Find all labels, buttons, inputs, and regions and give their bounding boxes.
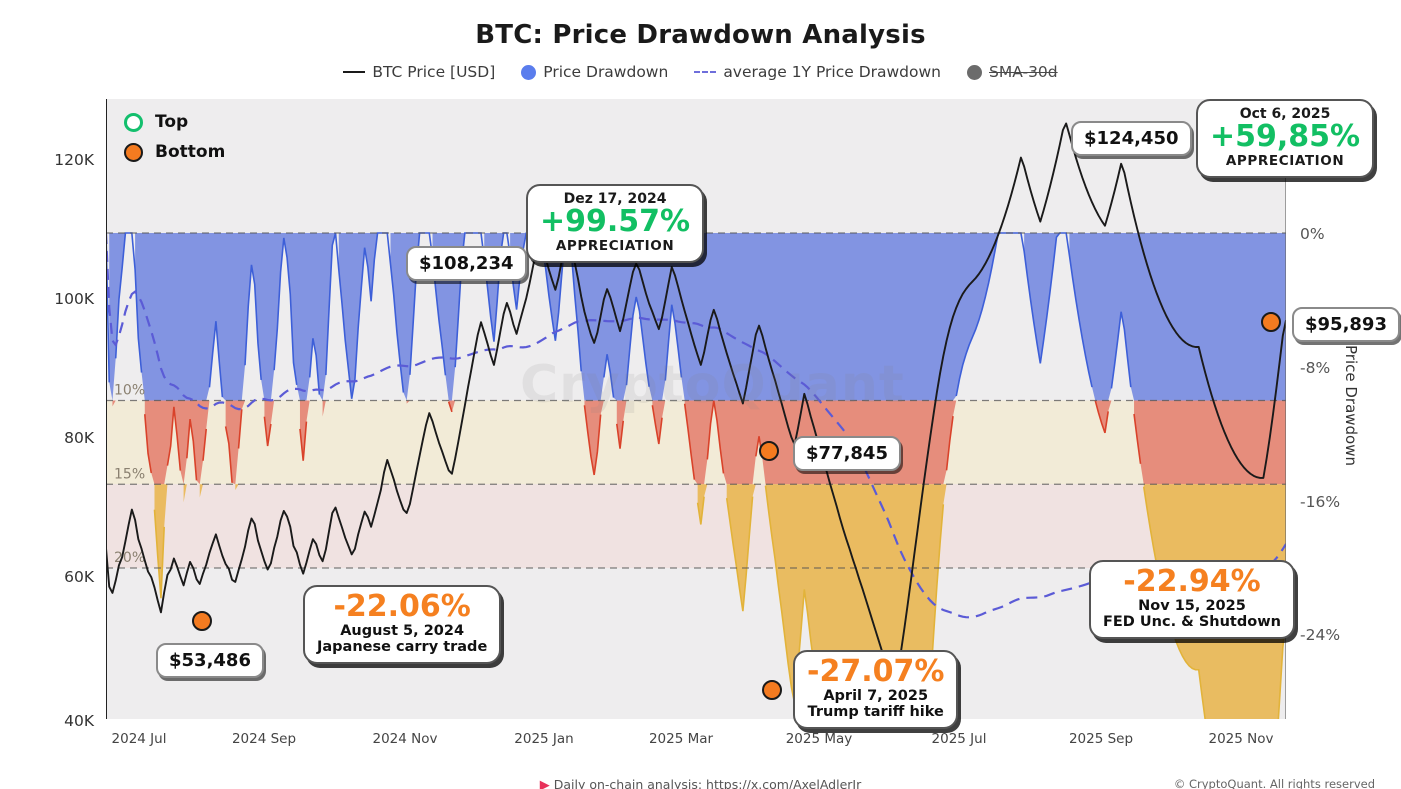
legend-label: BTC Price [USD] — [372, 63, 495, 81]
x-tick-6: 2025 Jul — [932, 731, 987, 747]
chart-page: BTC: Price Drawdown Analysis BTC Price [… — [0, 0, 1401, 789]
price-label-124450: $124,450 — [1071, 121, 1192, 156]
annotation-aug-5-2024: -22.06% August 5, 2024 Japanese carry tr… — [303, 585, 501, 664]
legend-label: SMA-30d — [989, 63, 1058, 81]
annotation-sub: Japanese carry trade — [317, 639, 487, 655]
chart-legend: BTC Price [USD] Price Drawdown average 1… — [0, 63, 1401, 81]
legend-item-price-drawdown[interactable]: Price Drawdown — [521, 63, 668, 81]
legend-item-average-1y-drawdown[interactable]: average 1Y Price Drawdown — [694, 63, 941, 81]
x-tick-8: 2025 Nov — [1209, 731, 1274, 747]
annotation-pct: -22.06% — [317, 592, 487, 623]
marker-bottom-aug-2024 — [192, 611, 212, 631]
y-tick-left-0: 40K — [64, 712, 94, 730]
svg-text:15%: 15% — [114, 466, 145, 482]
legend-label: Price Drawdown — [543, 63, 668, 81]
circle-open-icon — [124, 113, 143, 132]
dot-swatch-icon — [967, 65, 982, 80]
circle-filled-icon — [124, 143, 143, 162]
x-tick-3: 2025 Jan — [514, 731, 573, 747]
x-tick-0: 2024 Jul — [112, 731, 167, 747]
annotation-pct: +99.57% — [540, 207, 690, 238]
dot-swatch-icon — [521, 65, 536, 80]
annotation-pct: -27.07% — [807, 657, 944, 688]
y-tick-right-3: -24% — [1300, 626, 1340, 644]
y-tick-left-1: 60K — [64, 568, 94, 586]
price-label-108234: $108,234 — [406, 246, 527, 281]
legend-item-top: Top — [124, 112, 225, 132]
legend-item-btc-price[interactable]: BTC Price [USD] — [343, 63, 495, 81]
play-icon: ▶ — [540, 778, 550, 789]
annotation-dec-17-2024: Dez 17, 2024 +99.57% APPRECIATION — [526, 184, 704, 263]
x-tick-7: 2025 Sep — [1069, 731, 1133, 747]
svg-text:10%: 10% — [114, 383, 145, 399]
legend-item-sma-30d[interactable]: SMA-30d — [967, 63, 1058, 81]
marker-bottom-apr-2025-low — [762, 680, 782, 700]
y-tick-right-2: -16% — [1300, 493, 1340, 511]
footer-prefix: Daily on-chain analysis: — [554, 777, 706, 789]
annotation-pct: -22.94% — [1103, 567, 1281, 598]
x-tick-1: 2024 Sep — [232, 731, 296, 747]
annotation-apr-7-2025: -27.07% April 7, 2025 Trump tariff hike — [793, 650, 958, 729]
annotation-date: April 7, 2025 — [807, 688, 944, 704]
footer-link[interactable]: https://x.com/AxelAdlerJr — [706, 777, 861, 789]
annotation-sub: Trump tariff hike — [807, 704, 944, 720]
line-swatch-icon — [343, 71, 365, 73]
annotation-sub: APPRECIATION — [1210, 153, 1360, 169]
marker-bottom-apr-2025 — [759, 441, 779, 461]
legend-label: average 1Y Price Drawdown — [723, 63, 941, 81]
dashed-line-swatch-icon — [694, 71, 716, 73]
price-label-53486: $53,486 — [156, 643, 264, 678]
annotation-date: Nov 15, 2025 — [1103, 598, 1281, 614]
price-label-95893: $95,893 — [1292, 307, 1400, 342]
annotation-sub: FED Unc. & Shutdown — [1103, 614, 1281, 630]
annotation-nov-15-2025: -22.94% Nov 15, 2025 FED Unc. & Shutdown — [1089, 560, 1295, 639]
x-tick-4: 2025 Mar — [649, 731, 713, 747]
annotation-pct: +59,85% — [1210, 122, 1360, 153]
annotation-sub: APPRECIATION — [540, 238, 690, 254]
x-tick-5: 2025 May — [786, 731, 853, 747]
y-tick-right-1: -8% — [1300, 359, 1330, 377]
legend-label: Bottom — [155, 142, 225, 162]
footer-copyright: © CryptoQuant. All rights reserved — [1174, 777, 1375, 789]
y-tick-left-3: 100K — [54, 290, 94, 308]
x-tick-2: 2024 Nov — [373, 731, 438, 747]
legend-item-bottom: Bottom — [124, 142, 225, 162]
top-bottom-legend: Top Bottom — [124, 112, 225, 162]
y-tick-right-0: 0% — [1300, 225, 1325, 243]
legend-label: Top — [155, 112, 188, 132]
y-axis-right-title: Price Drawdown — [1342, 345, 1360, 466]
marker-current-price — [1261, 312, 1281, 332]
y-tick-left-4: 120K — [54, 151, 94, 169]
annotation-oct-6-2025: Oct 6, 2025 +59,85% APPRECIATION — [1196, 99, 1374, 178]
annotation-date: August 5, 2024 — [317, 623, 487, 639]
price-label-77845: $77,845 — [793, 436, 901, 471]
page-title: BTC: Price Drawdown Analysis — [0, 20, 1401, 50]
y-tick-left-2: 80K — [64, 429, 94, 447]
